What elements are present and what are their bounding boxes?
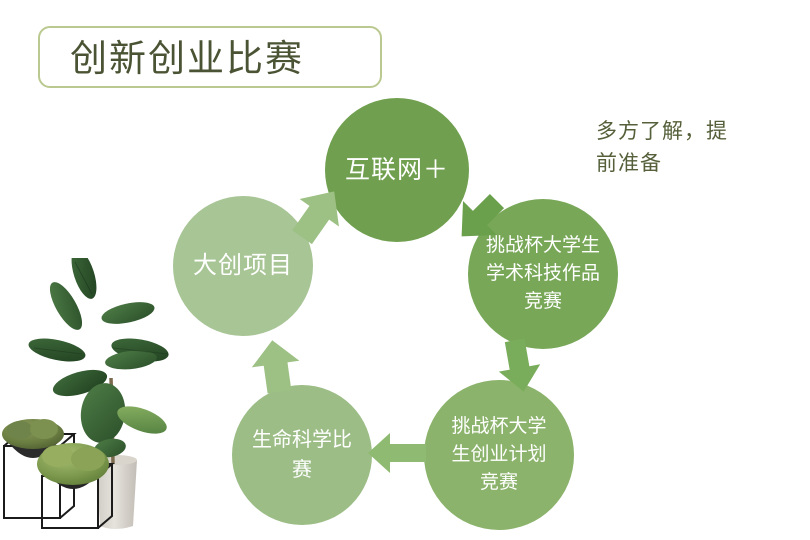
side-note-line-2: 前准备 [596,148,796,180]
arrow-to-innovation-project-icon [244,336,308,398]
side-note: 多方了解，提 前准备 [596,116,796,180]
cycle-node-life-science-label: 生命科学比 赛 [242,425,362,485]
arrow-to-life-science-icon [366,427,428,479]
cycle-node-challenge-cup-startup[interactable]: 挑战杯大学 生创业计划 竞赛 [424,380,574,530]
arrow-to-startup-icon [486,332,552,398]
cycle-node-internet-plus-label: 互联网＋ [335,155,459,185]
cycle-node-life-science[interactable]: 生命科学比 赛 [232,385,372,525]
cycle-node-innovation-project-label: 大创项目 [183,251,303,281]
arrow-to-internet-plus-icon [281,180,353,252]
page-title: 创新创业比赛 [70,36,370,82]
arrow-to-academic-icon [444,182,516,254]
side-note-line-1: 多方了解，提 [596,116,796,148]
cycle-node-challenge-cup-startup-label: 挑战杯大学 生创业计划 竞赛 [441,413,556,497]
plant-photo [0,258,196,540]
